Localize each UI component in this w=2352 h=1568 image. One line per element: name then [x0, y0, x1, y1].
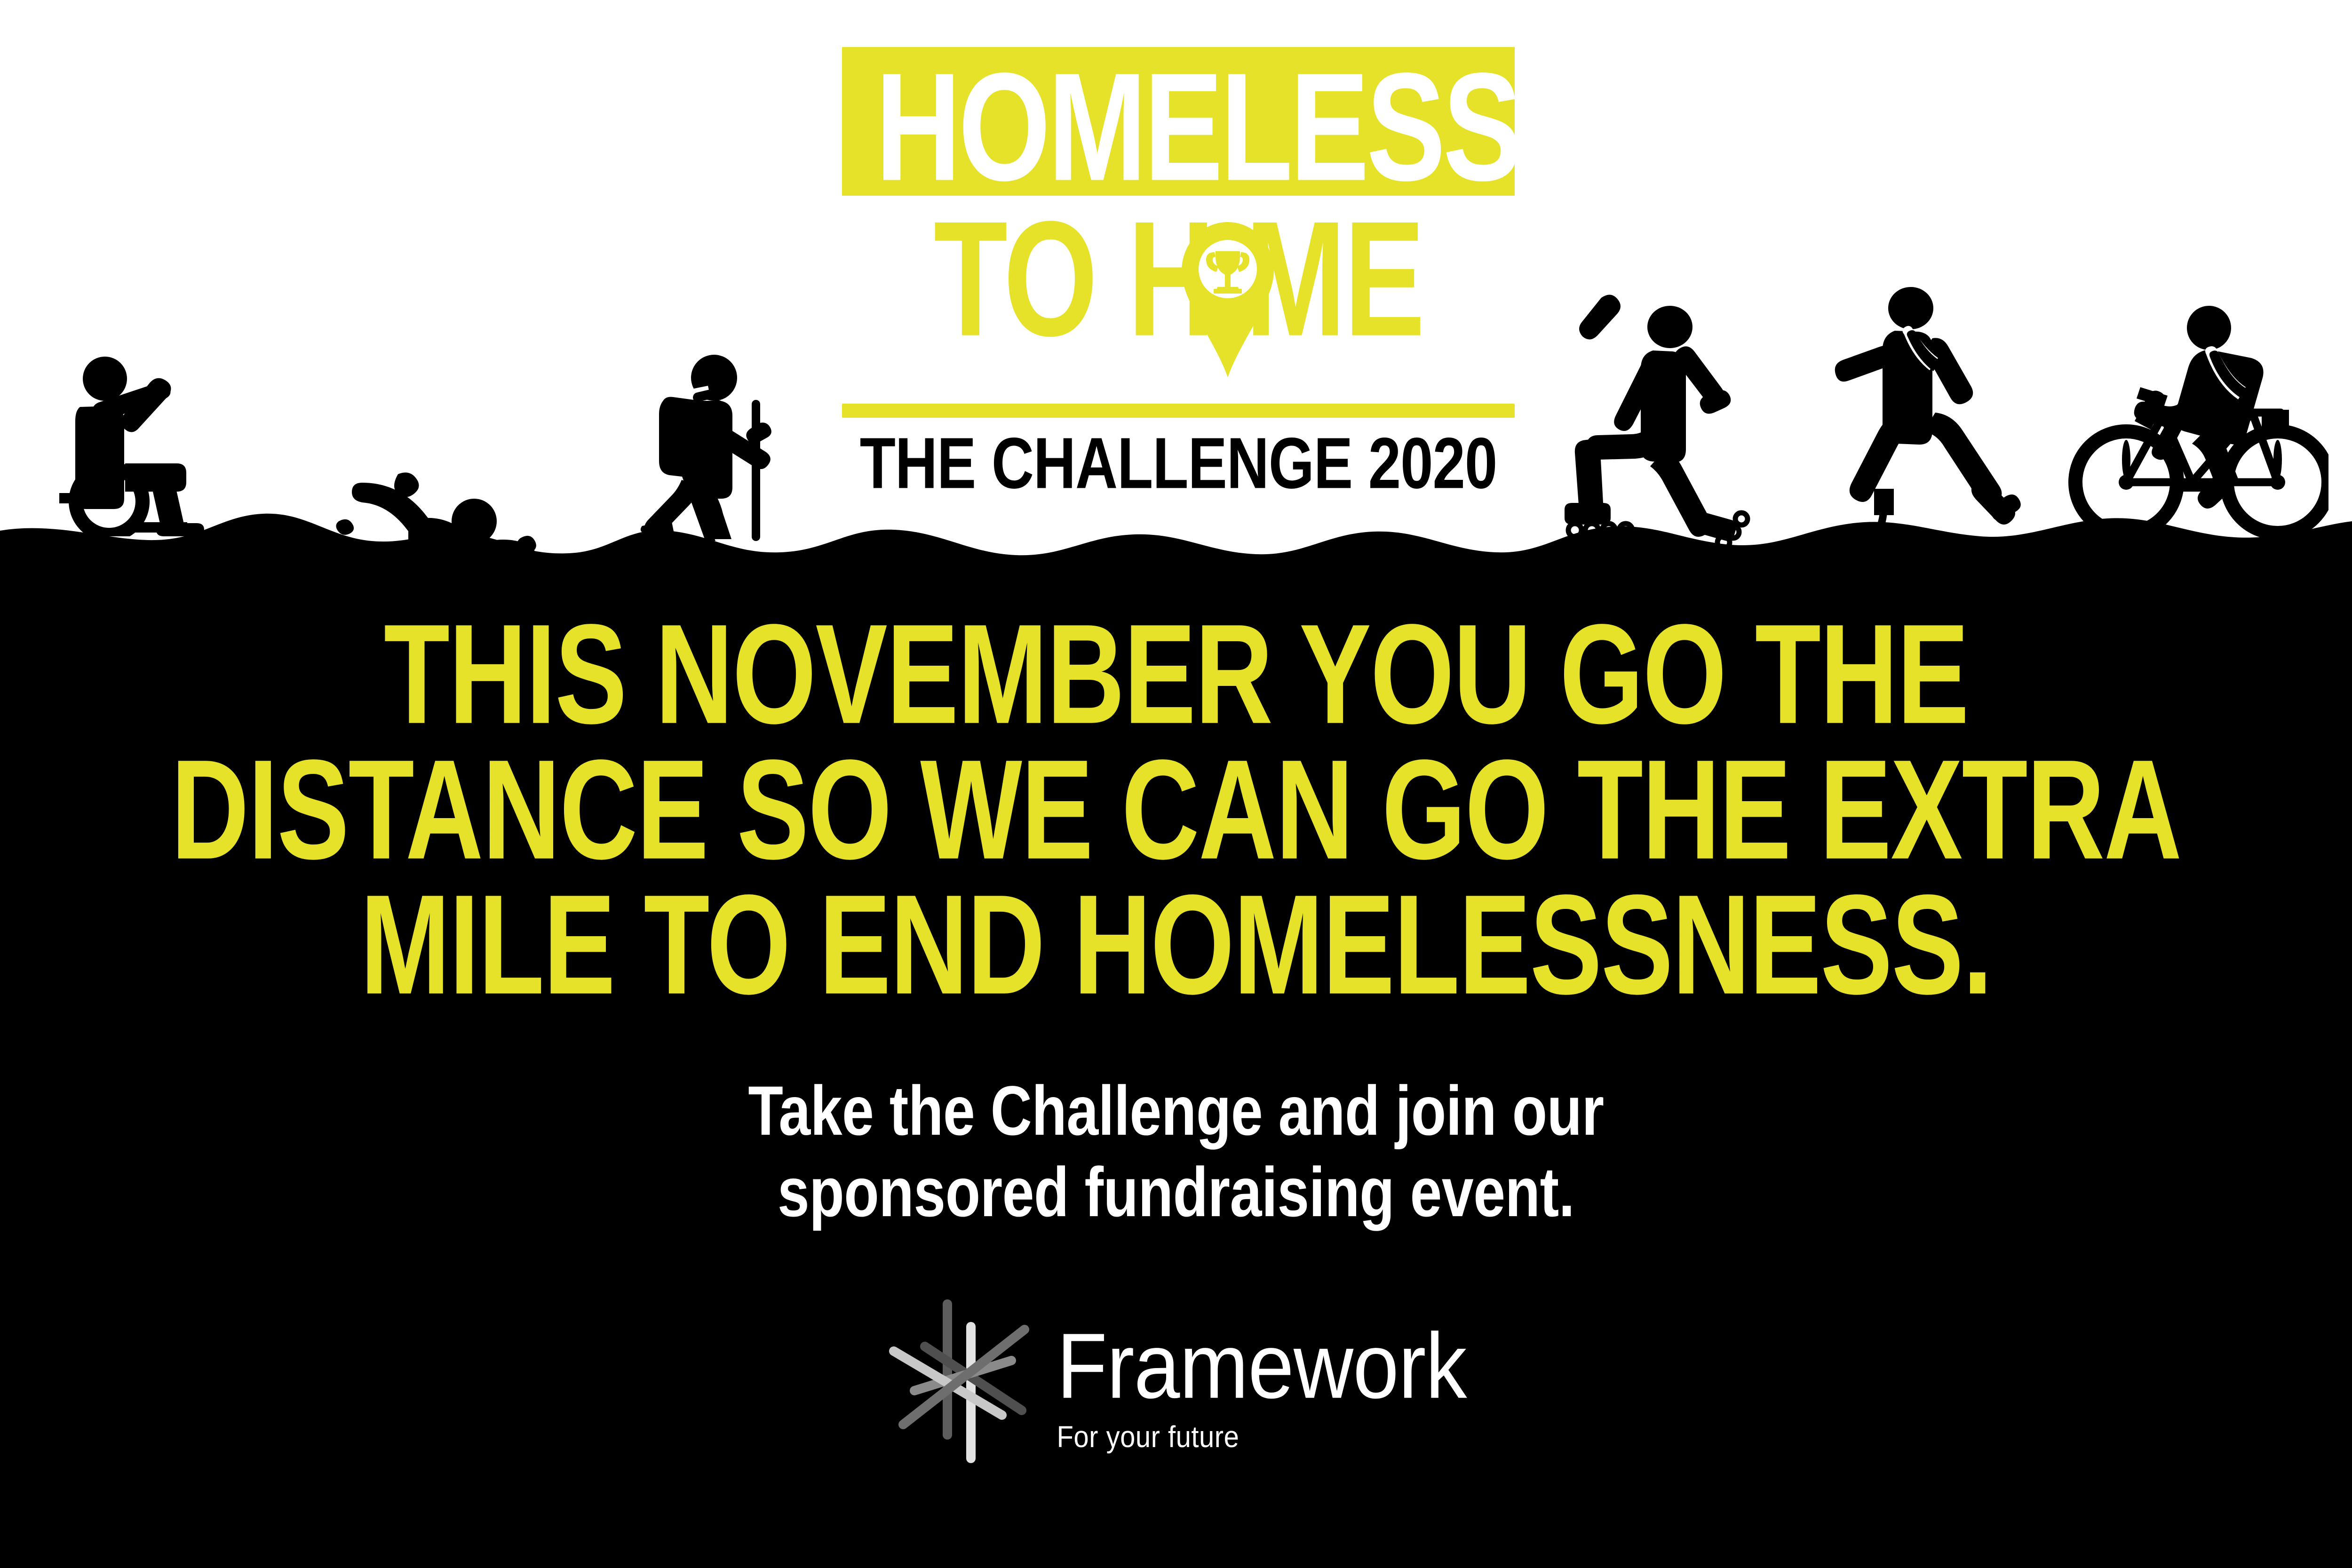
framework-logo: Framework For your future — [0, 1298, 2352, 1463]
map-pin-icon — [1182, 222, 1274, 377]
framework-wordmark: Framework — [1057, 1320, 1466, 1412]
event-logo-lockup: HOMELESS TO H ME THE CHALLENGE 2020 — [842, 47, 1515, 486]
logo-word-to-home: TO H ME — [856, 212, 1502, 346]
logo-divider-rule — [842, 404, 1515, 418]
logo-strapline: THE CHALLENGE 2020 — [845, 427, 1511, 500]
subheadline-line-2: sponsored fundraising event. — [0, 1143, 2352, 1242]
headline-line-3: MILE TO END HOMELESSNESS. — [12, 857, 2340, 1033]
logo-word-homeless: HOMELESS — [875, 64, 1481, 190]
framework-tagline: For your future — [1057, 1422, 1466, 1452]
poster-canvas: HOMELESS TO H ME THE CHALLENGE 2020 — [0, 0, 2352, 1568]
subheadline: Take the Challenge and join our sponsore… — [0, 1070, 2352, 1233]
framework-asterisk-icon — [885, 1298, 1041, 1463]
to-home-row: TO H ME — [842, 212, 1515, 395]
headline: THIS NOVEMBER YOU GO THE DISTANCE SO WE … — [0, 607, 2352, 1013]
homeless-yellow-band: HOMELESS — [842, 47, 1515, 196]
